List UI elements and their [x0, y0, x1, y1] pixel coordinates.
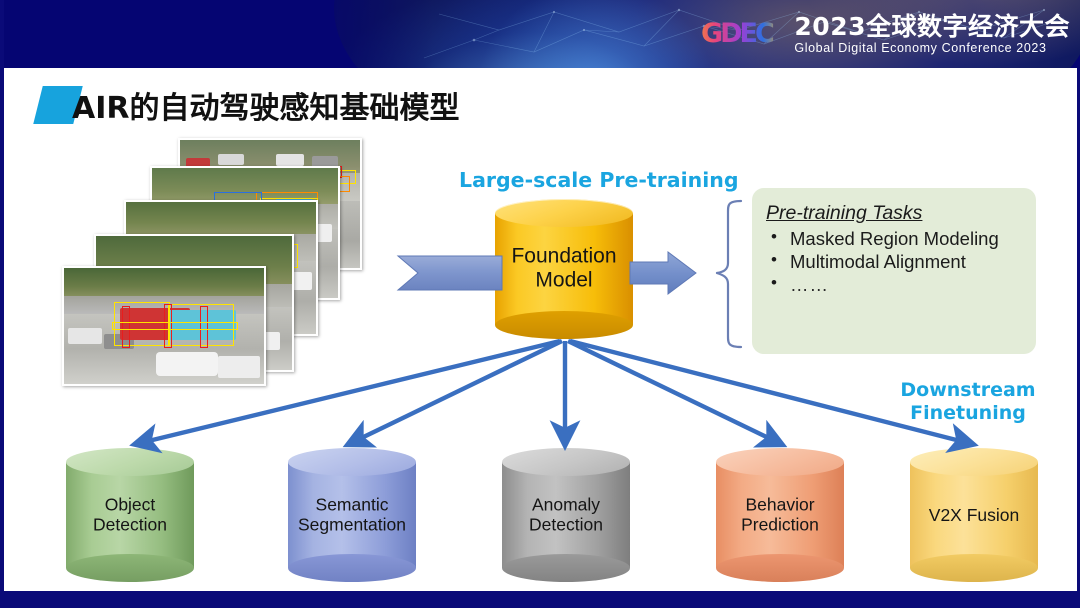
- pretraining-tasks-list: Masked Region Modeling Multimodal Alignm…: [752, 228, 1036, 295]
- traffic-photo-5: [62, 266, 266, 386]
- pretraining-tasks-box: Pre-training Tasks Masked Region Modelin…: [752, 188, 1036, 354]
- cylinder-label-line2: Prediction: [716, 515, 844, 535]
- cylinder-label-line1: Behavior: [716, 495, 844, 515]
- fanout-arrow-behavior-prediction: [568, 341, 781, 444]
- footer-bar: [4, 591, 1080, 608]
- foundation-model-line1: Foundation: [495, 245, 633, 269]
- cylinder-bottom: [495, 311, 633, 339]
- conference-header-banner: GDEC 2023全球数字经济大会 Global Digital Economy…: [4, 0, 1080, 68]
- gdec-logo: GDEC 2023全球数字经济大会 Global Digital Economy…: [688, 6, 1070, 62]
- cylinder-bottom: [910, 554, 1038, 582]
- cylinder-label: Behavior Prediction: [716, 495, 844, 536]
- downstream-cylinder-behavior-prediction: Behavior Prediction: [716, 448, 844, 582]
- downstream-cylinder-v2x-fusion: V2X Fusion: [910, 448, 1038, 582]
- tasks-curly-brace: [717, 201, 741, 347]
- conference-title-cn: 2023全球数字经济大会: [794, 13, 1070, 40]
- page-title: AIR的自动驾驶感知基础模型: [38, 83, 459, 127]
- conference-title-en: Global Digital Economy Conference 2023: [794, 41, 1070, 56]
- foundation-model-label: Foundation Model: [495, 245, 633, 294]
- cylinder-label: V2X Fusion: [910, 505, 1038, 525]
- fanout-arrow-semantic-segmentation: [349, 341, 562, 444]
- cylinder-label-line2: Detection: [66, 515, 194, 535]
- cylinder-label-line1: Semantic: [288, 495, 416, 515]
- cylinder-label: Anomaly Detection: [502, 495, 630, 536]
- cylinder-bottom: [66, 554, 194, 582]
- cylinder-label: Semantic Segmentation: [288, 495, 416, 536]
- page-title-text: AIR的自动驾驶感知基础模型: [72, 83, 459, 127]
- cylinder-bottom: [502, 554, 630, 582]
- input-ribbon-arrow: [398, 256, 502, 290]
- cylinder-top: [502, 448, 630, 476]
- header-left-fade: [4, 0, 434, 68]
- foundation-model-line2: Model: [495, 269, 633, 293]
- cylinder-bottom: [288, 554, 416, 582]
- foundation-model-cylinder: Foundation Model: [495, 199, 633, 339]
- cylinder-top: [66, 448, 194, 476]
- list-item: Multimodal Alignment: [768, 251, 1026, 273]
- gdec-logo-icon: GDEC: [688, 17, 784, 51]
- output-block-arrow: [630, 252, 696, 294]
- cylinder-label-line2: Detection: [502, 515, 630, 535]
- traffic-image-stack: [62, 138, 362, 383]
- list-item: Masked Region Modeling: [768, 228, 1026, 250]
- downstream-finetuning-line1: Downstream: [880, 379, 1056, 402]
- downstream-cylinder-semantic-segmentation: Semantic Segmentation: [288, 448, 416, 582]
- cylinder-bottom: [716, 554, 844, 582]
- cylinder-label-line1: V2X Fusion: [910, 505, 1038, 525]
- cylinder-label: Object Detection: [66, 495, 194, 536]
- list-item: ……: [768, 274, 1026, 296]
- cylinder-label-line1: Anomaly: [502, 495, 630, 515]
- cylinder-top: [288, 448, 416, 476]
- downstream-cylinder-anomaly-detection: Anomaly Detection: [502, 448, 630, 582]
- cylinder-top: [716, 448, 844, 476]
- downstream-finetuning-line2: Finetuning: [880, 402, 1056, 425]
- pretraining-tasks-title: Pre-training Tasks: [766, 202, 922, 225]
- cylinder-top: [495, 199, 633, 227]
- cylinder-label-line2: Segmentation: [288, 515, 416, 535]
- slide-canvas: GDEC 2023全球数字经济大会 Global Digital Economy…: [0, 0, 1080, 608]
- conference-title-block: 2023全球数字经济大会 Global Digital Economy Conf…: [794, 13, 1070, 56]
- downstream-finetuning-label: Downstream Finetuning: [880, 379, 1056, 425]
- downstream-cylinder-object-detection: Object Detection: [66, 448, 194, 582]
- cylinder-label-line1: Object: [66, 495, 194, 515]
- large-scale-pretraining-label: Large-scale Pre-training: [459, 168, 735, 192]
- cylinder-top: [910, 448, 1038, 476]
- gdec-logo-lettermark: GDEC: [688, 17, 784, 51]
